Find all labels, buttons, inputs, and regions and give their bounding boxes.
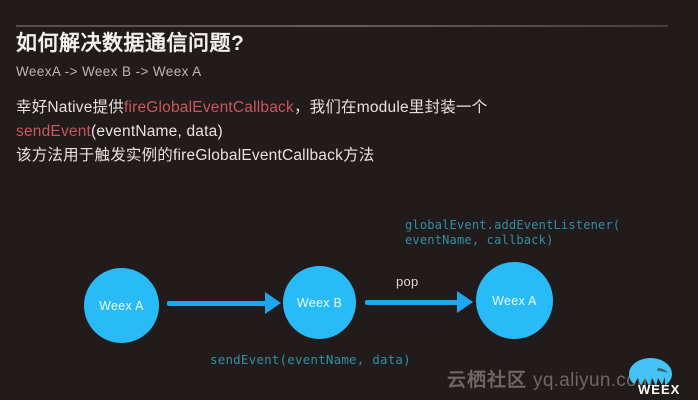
- body-line-2-highlight: sendEvent: [16, 123, 91, 140]
- watermark: 云栖社区 yq.aliyun.com: [447, 365, 653, 392]
- page-title: 如何解决数据通信问题?: [16, 30, 676, 58]
- body-line-1-highlight: fireGlobalEventCallback: [124, 99, 294, 116]
- heading-block: 如何解决数据通信问题? WeexA -> Weex B -> Weex A: [16, 30, 676, 79]
- weex-logo-text: WEEX: [638, 382, 680, 397]
- body-line-2: sendEvent(eventName, data): [16, 120, 676, 144]
- node-weex-a-left-label: Weex A: [99, 299, 144, 313]
- body-line-1-prefix: 幸好Native提供: [16, 99, 124, 116]
- watermark-cn-text: 云栖社区: [447, 365, 527, 392]
- node-weex-a-left[interactable]: Weex A: [84, 268, 159, 343]
- node-weex-a-right-label: Weex A: [492, 294, 537, 308]
- node-weex-a-right[interactable]: Weex A: [476, 262, 553, 339]
- annotation-send-event: sendEvent(eventName, data): [210, 352, 411, 367]
- header-divider: [16, 25, 668, 27]
- body-line-3: 该方法用于触发实例的fireGlobalEventCallback方法: [16, 144, 676, 168]
- node-weex-b-middle-label: Weex B: [297, 296, 342, 310]
- annotation-global-event: globalEvent.addEventListener( eventName,…: [405, 218, 620, 248]
- node-weex-b-middle[interactable]: Weex B: [283, 266, 356, 339]
- body-line-2-rest: (eventName, data): [91, 123, 223, 140]
- page-subtitle: WeexA -> Weex B -> Weex A: [16, 64, 676, 79]
- edge-a-to-b-line: [167, 301, 267, 306]
- slide-canvas: 如何解决数据通信问题? WeexA -> Weex B -> Weex A 幸好…: [0, 0, 698, 400]
- body-line-1: 幸好Native提供fireGlobalEventCallback，我们在mod…: [16, 96, 676, 120]
- weex-logo: WEEX: [624, 358, 686, 400]
- edge-b-to-a-label: pop: [396, 274, 419, 289]
- edge-b-to-a-line: [365, 300, 459, 305]
- body-line-1-suffix: ，我们在module里封装一个: [294, 99, 487, 116]
- flow-diagram: globalEvent.addEventListener( eventName,…: [0, 200, 698, 375]
- body-text: 幸好Native提供fireGlobalEventCallback，我们在mod…: [16, 96, 676, 168]
- edge-b-to-a-arrowhead: [457, 291, 473, 313]
- edge-a-to-b-arrowhead: [265, 292, 281, 314]
